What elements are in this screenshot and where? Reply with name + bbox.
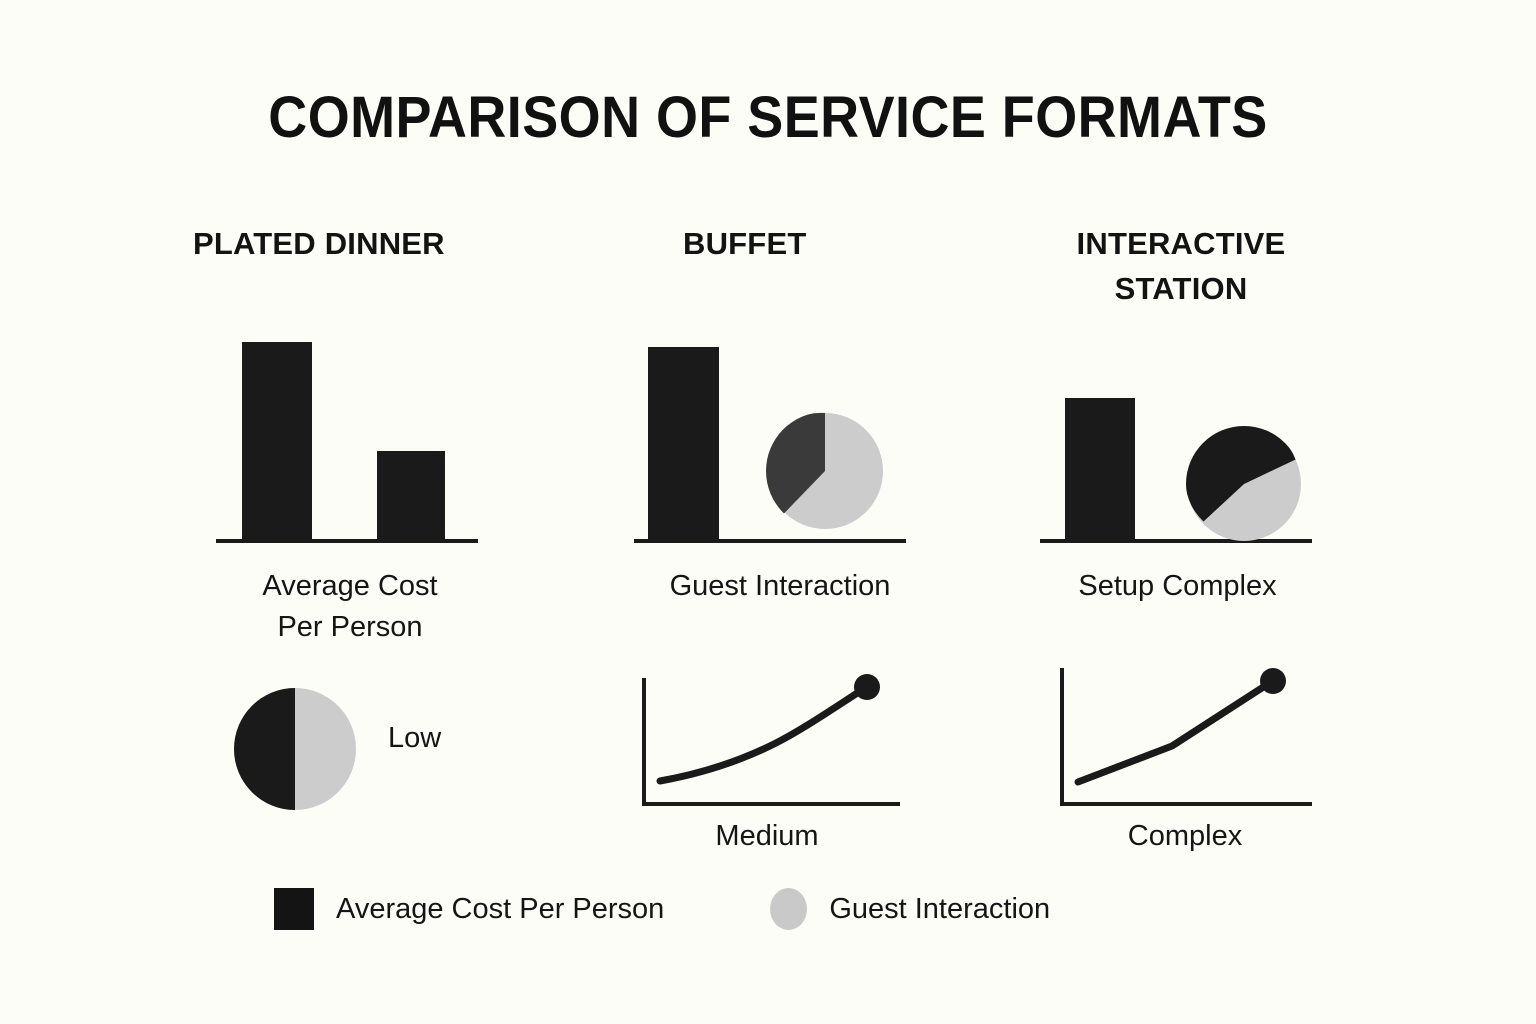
column-header-plated-dinner: PLATED DINNER bbox=[193, 222, 533, 267]
metric-label-line-1: Average Cost bbox=[200, 566, 500, 607]
legend-label-guest-interaction: Guest Interaction bbox=[829, 893, 1050, 926]
bar-interactive-cost bbox=[1065, 398, 1135, 541]
column-header-line-2: STATION bbox=[1040, 267, 1322, 312]
column-header-interactive-station: INTERACTIVE STATION bbox=[1040, 222, 1322, 312]
legend-label-average-cost: Average Cost Per Person bbox=[336, 893, 664, 926]
metric-label-buffet: Guest Interaction bbox=[630, 566, 930, 607]
legend-entry-guest-interaction: Guest Interaction bbox=[770, 888, 1050, 930]
metric-label-interactive: Setup Complex bbox=[1035, 566, 1320, 607]
legend-swatch-circle-icon bbox=[770, 888, 807, 930]
metric-label-plated: Average Cost Per Person bbox=[200, 566, 500, 648]
metric-label-line-2: Per Person bbox=[200, 607, 500, 648]
line-chart-buffet bbox=[634, 672, 910, 814]
column-header-line-1: INTERACTIVE bbox=[1040, 222, 1322, 267]
column-header-buffet: BUFFET bbox=[683, 222, 1013, 267]
value-label-buffet: Medium bbox=[630, 820, 904, 853]
legend-entry-average-cost: Average Cost Per Person bbox=[274, 888, 664, 930]
baseline-column-3 bbox=[1040, 539, 1312, 543]
value-label-plated: Low bbox=[388, 722, 441, 755]
infographic-canvas: COMPARISON OF SERVICE FORMATS PLATED DIN… bbox=[0, 0, 1536, 1024]
baseline-column-1 bbox=[216, 539, 478, 543]
legend: Average Cost Per Person Guest Interactio… bbox=[274, 888, 1050, 930]
bar-plated-interaction bbox=[377, 451, 445, 541]
legend-swatch-square-icon bbox=[274, 888, 314, 930]
value-label-interactive: Complex bbox=[1048, 820, 1322, 853]
bar-buffet-cost bbox=[648, 347, 719, 541]
bar-plated-cost bbox=[242, 342, 312, 541]
pie-interactive-guest-interaction bbox=[1186, 426, 1302, 542]
pie-buffet-guest-interaction bbox=[766, 412, 884, 530]
pie-plated-guest-interaction bbox=[233, 687, 357, 811]
page-title: COMPARISON OF SERVICE FORMATS bbox=[54, 88, 1482, 149]
baseline-column-2 bbox=[634, 539, 906, 543]
line-chart-interactive bbox=[1050, 662, 1322, 814]
